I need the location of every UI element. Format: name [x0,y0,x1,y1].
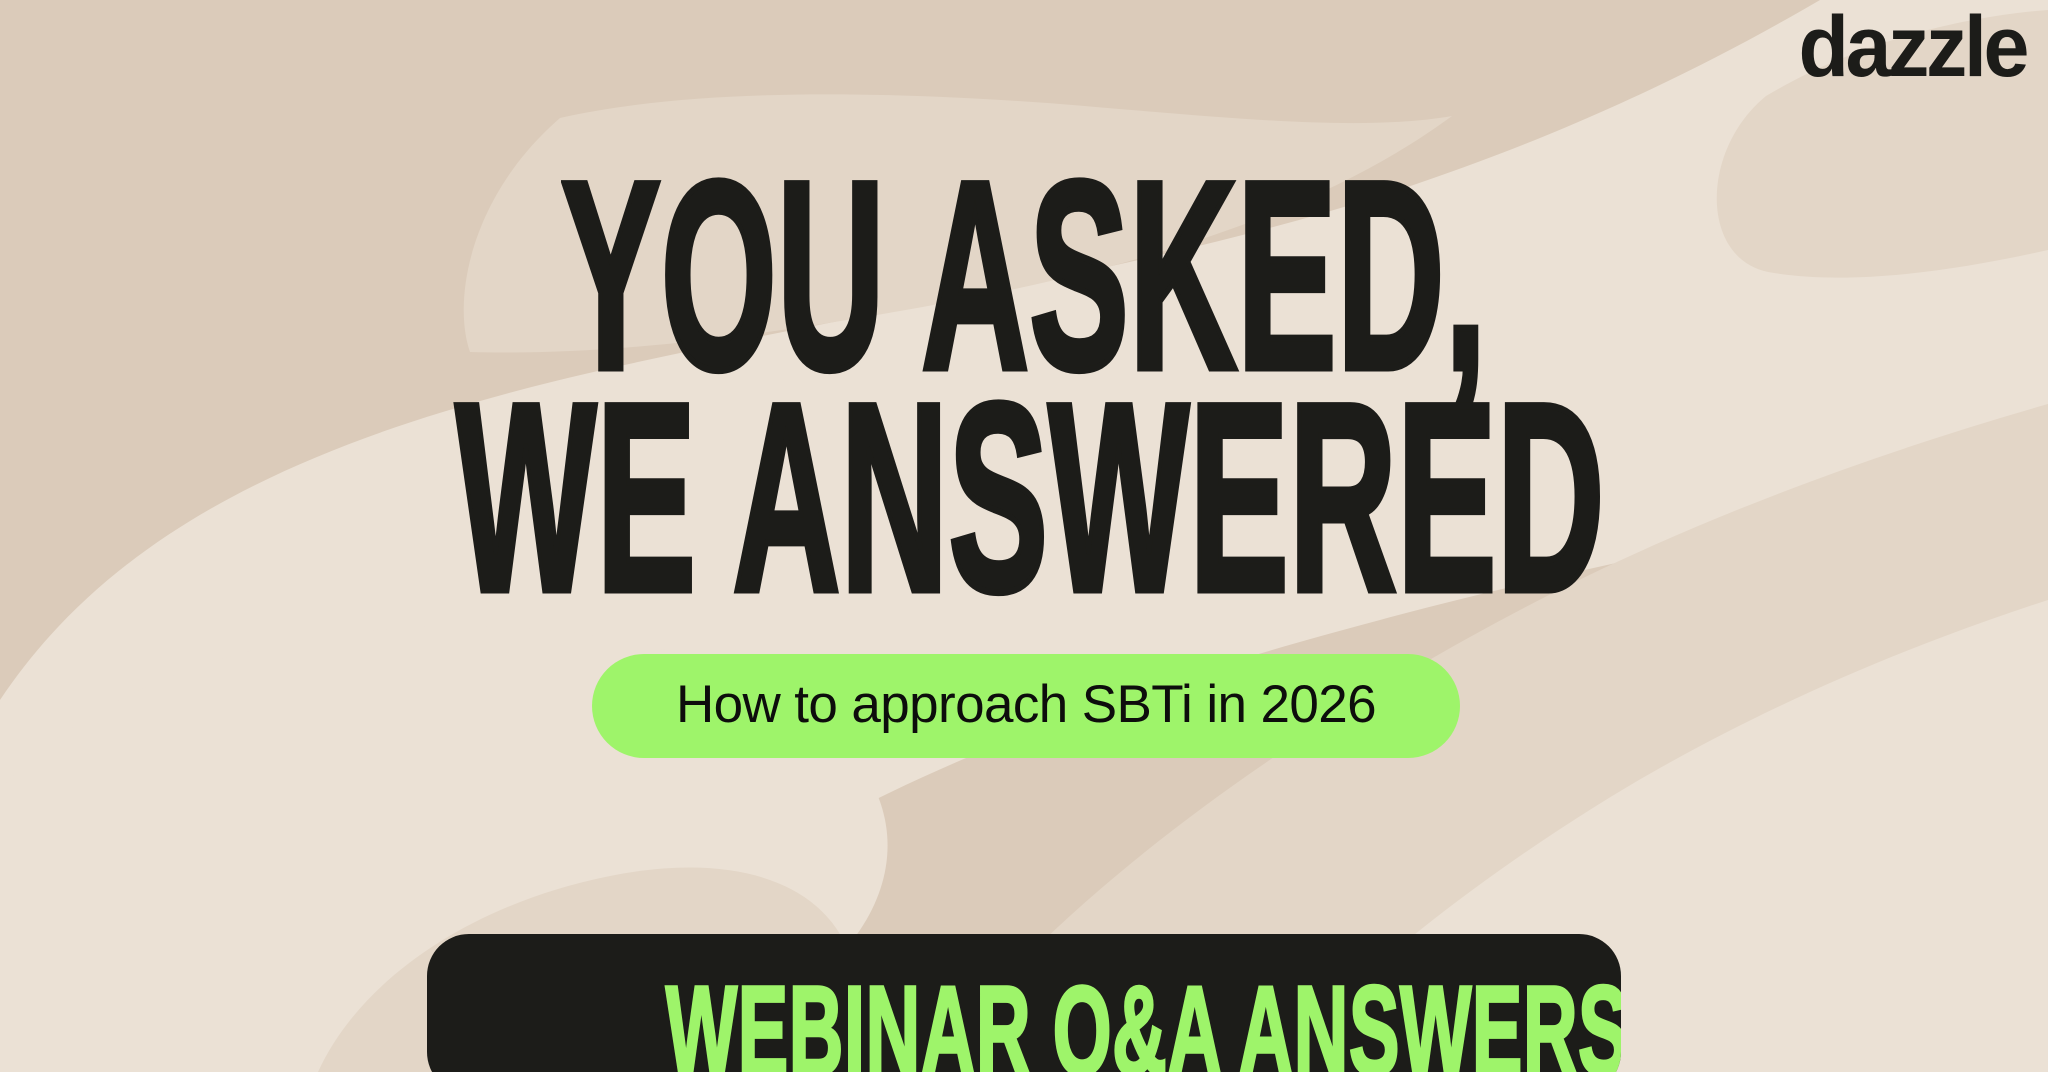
headline-line-2: WE ANSWERED [456,390,1593,604]
dazzle-logo: dazzle [1798,4,2026,90]
subtitle-pill: How to approach SBTi in 2026 [592,654,1460,758]
webinar-banner: WEBINAR Q&A ANSWERS [427,934,1621,1072]
webinar-banner-text: WEBINAR Q&A ANSWERS [666,934,1382,1072]
subtitle-text: How to approach SBTi in 2026 [676,678,1376,731]
page-title: YOU ASKED, WE ANSWERED [0,168,2048,605]
slide-canvas: dazzle YOU ASKED, WE ANSWERED How to app… [0,0,2048,1072]
